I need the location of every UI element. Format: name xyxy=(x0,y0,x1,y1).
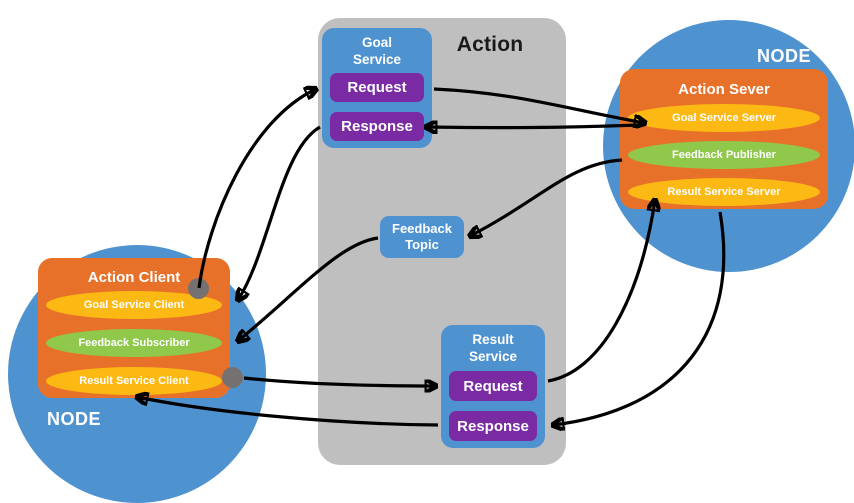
goal-service-response: Response xyxy=(330,112,424,141)
feedback-topic-box: FeedbackTopic xyxy=(380,216,464,258)
pill-result-service-server: Result Service Server xyxy=(628,178,820,206)
result-service-box: ResultService Request Response xyxy=(441,325,545,448)
connector-dot-result-client xyxy=(222,367,243,388)
action-server-title: Action Sever xyxy=(620,81,828,98)
goal-service-request: Request xyxy=(330,73,424,102)
pill-feedback-subscriber: Feedback Subscriber xyxy=(46,329,222,357)
node-label-server: NODE xyxy=(757,46,811,67)
arrow-goal-response-to-client xyxy=(238,127,320,300)
goal-service-title: GoalService xyxy=(322,35,432,69)
connector-dot-goal-client xyxy=(188,278,209,299)
action-title: Action xyxy=(430,33,550,57)
result-service-title: ResultService xyxy=(441,332,545,366)
pill-result-service-client: Result Service Client xyxy=(46,367,222,395)
goal-service-box: GoalService Request Response xyxy=(322,28,432,148)
node-label-client: NODE xyxy=(47,409,101,430)
pill-feedback-publisher: Feedback Publisher xyxy=(628,141,820,169)
action-server-box: Action Sever Goal Service Server Feedbac… xyxy=(620,69,828,209)
pill-goal-service-server: Goal Service Server xyxy=(628,104,820,132)
result-service-request: Request xyxy=(449,371,537,401)
result-service-response: Response xyxy=(449,411,537,441)
diagram-canvas: Action Action Client Goal Service Client… xyxy=(0,0,854,480)
